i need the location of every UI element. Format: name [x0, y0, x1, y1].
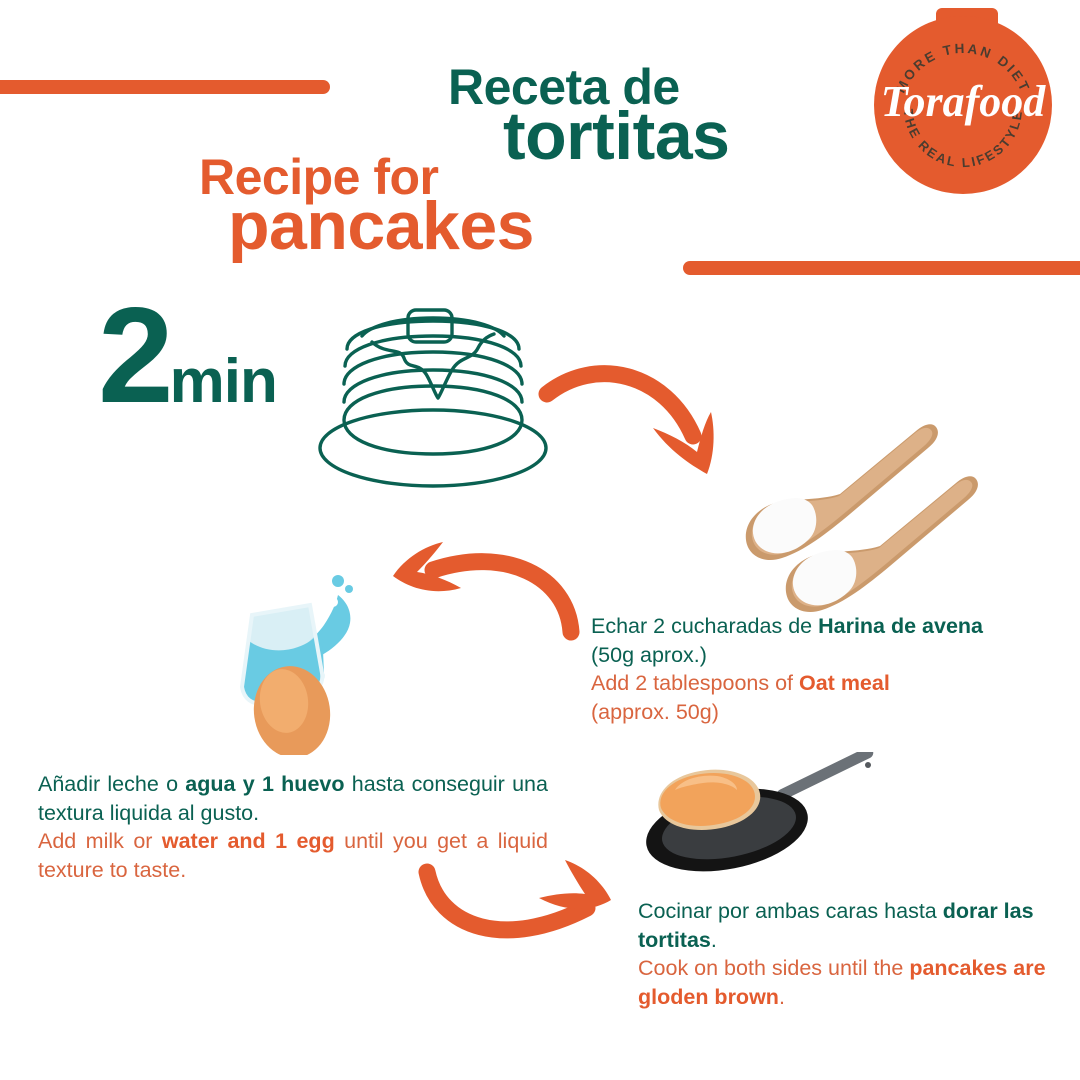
step-1-spanish: Echar 2 cucharadas de Harina de avena — [591, 612, 1031, 641]
brand-logo: MORE THAN DIET THE REAL LIFESTYLE Torafo… — [874, 8, 1060, 194]
logo-wordmark: Torafood — [881, 77, 1047, 126]
arrow-step1-icon — [525, 358, 755, 493]
title-english-line2: pancakes — [228, 187, 534, 265]
step-1-spanish-amount: (50g aprox.) — [591, 641, 1031, 670]
decorative-bar-left — [0, 80, 330, 94]
milk-and-egg-icon — [218, 555, 383, 755]
title-spanish-line2: tortitas — [503, 97, 729, 175]
step-3-spanish: Cocinar por ambas caras hasta dorar las … — [638, 897, 1058, 954]
frying-pan-icon — [625, 752, 895, 882]
step-1-english: Add 2 tablespoons of Oat meal — [591, 669, 1031, 698]
recipe-infographic: MORE THAN DIET THE REAL LIFESTYLE Torafo… — [0, 0, 1080, 1080]
step-2-english: Add milk or water and 1 egg until you ge… — [38, 827, 548, 884]
cooking-time-badge: 2min — [98, 287, 277, 423]
decorative-bar-right — [683, 261, 1080, 275]
step-2-spanish: Añadir leche o agua y 1 huevo hasta cons… — [38, 770, 548, 827]
arrow-step2-icon — [375, 540, 595, 650]
step-3-text: Cocinar por ambas caras hasta dorar las … — [638, 897, 1058, 1011]
step-2-text: Añadir leche o agua y 1 huevo hasta cons… — [38, 770, 548, 884]
step-1-text: Echar 2 cucharadas de Harina de avena (5… — [591, 612, 1031, 726]
step-3-english: Cook on both sides until the pancakes ar… — [638, 954, 1058, 1011]
logo-text-svg: MORE THAN DIET THE REAL LIFESTYLE Torafo… — [874, 16, 1052, 194]
step-1-english-amount: (approx. 50g) — [591, 698, 1031, 727]
cooking-time-value: 2 — [98, 279, 170, 431]
cooking-time-unit: min — [170, 347, 277, 416]
